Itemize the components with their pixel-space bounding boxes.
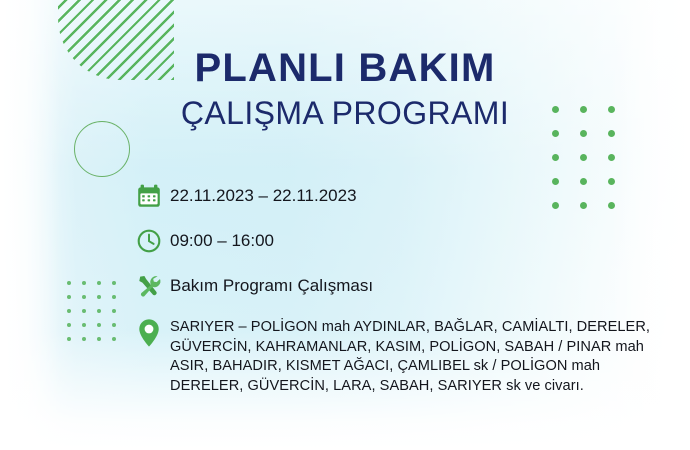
page-subtitle: ÇALIŞMA PROGRAMI: [0, 94, 690, 132]
page-title: PLANLI BAKIM: [0, 46, 690, 90]
calendar-icon: [136, 182, 170, 215]
address-line: GÜVERCİN, KAHRAMANLAR, KASIM, POLİGON, S…: [170, 338, 650, 358]
work-type-value: Bakım Programı Çalışması: [170, 272, 373, 296]
info-row-location: SARIYER – POLİGON mah AYDINLAR, BAĞLAR, …: [136, 317, 636, 396]
info-row-date: 22.11.2023 – 22.11.2023: [136, 182, 636, 215]
info-list: 22.11.2023 – 22.11.2023 09:00 – 16:00 Ba…: [136, 182, 636, 396]
time-range-value: 09:00 – 16:00: [170, 227, 274, 251]
date-range-value: 22.11.2023 – 22.11.2023: [170, 182, 357, 206]
address-line: SARIYER – POLİGON mah AYDINLAR, BAĞLAR, …: [170, 318, 650, 338]
dot-grid-left-decoration: [67, 281, 127, 351]
tools-icon: [136, 272, 170, 305]
address-line: DERELER, GÜVERCİN, LARA, SABAH, SARIYER …: [170, 377, 650, 397]
location-pin-icon: [136, 317, 170, 350]
location-address-lines: SARIYER – POLİGON mah AYDINLAR, BAĞLAR, …: [170, 317, 650, 396]
clock-icon: [136, 227, 170, 260]
info-row-time: 09:00 – 16:00: [136, 227, 636, 260]
poster-heading: PLANLI BAKIM ÇALIŞMA PROGRAMI: [0, 46, 690, 132]
info-row-work-type: Bakım Programı Çalışması: [136, 272, 636, 305]
address-line: ASIR, BAHADIR, KISMET AĞACI, ÇAMLIBEL sk…: [170, 357, 650, 377]
maintenance-notice-poster: PLANLI BAKIM ÇALIŞMA PROGRAMI: [0, 0, 690, 450]
